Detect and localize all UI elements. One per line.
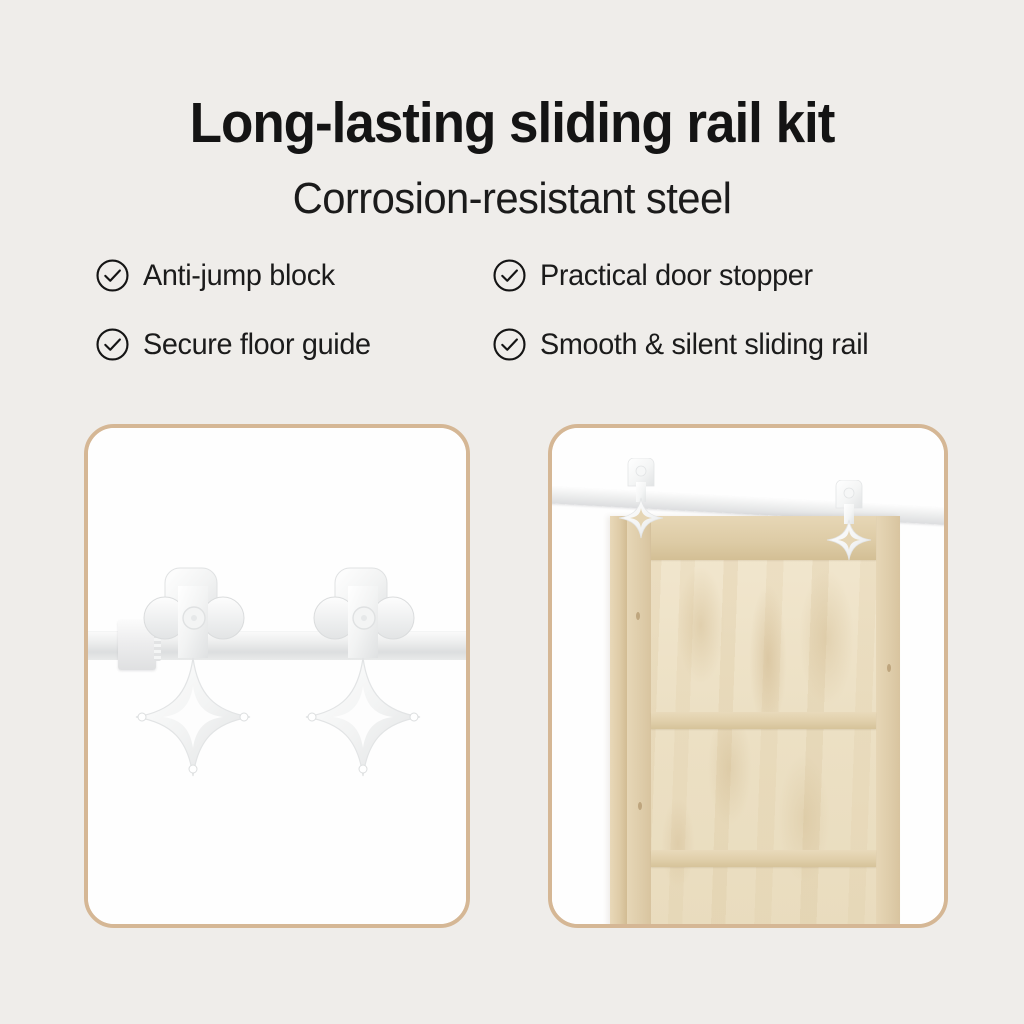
door-stile-left: [627, 516, 651, 924]
star-hanger-roller: [288, 566, 458, 816]
feature-label: Smooth & silent sliding rail: [540, 328, 868, 362]
check-circle-icon: [95, 258, 130, 293]
page-title: Long-lasting sliding rail kit: [36, 94, 988, 152]
check-circle-icon: [492, 327, 527, 362]
infographic-page: Long-lasting sliding rail kit Corrosion-…: [0, 0, 1024, 1024]
feature-label: Secure floor guide: [143, 328, 371, 362]
door-rail-bottom: [651, 850, 876, 867]
star-hanger-roller: [820, 480, 878, 562]
star-hanger-roller: [118, 566, 288, 816]
feature-item-smooth-silent-sliding-rail: Smooth & silent sliding rail: [492, 327, 882, 362]
star-hanger-roller: [612, 458, 670, 540]
feature-item-practical-door-stopper: Practical door stopper: [492, 258, 824, 293]
feature-label: Anti-jump block: [143, 259, 335, 293]
wood-knot: [638, 802, 642, 810]
feature-list: Anti-jump block Practical door stopper S…: [0, 258, 1024, 386]
page-subtitle: Corrosion-resistant steel: [26, 176, 999, 222]
feature-item-anti-jump-block: Anti-jump block: [95, 258, 343, 293]
feature-label: Practical door stopper: [540, 259, 813, 293]
hardware-photo-card: [84, 424, 470, 928]
wood-knot: [636, 612, 640, 620]
door-stile-right: [876, 516, 900, 924]
check-circle-icon: [95, 327, 130, 362]
check-circle-icon: [492, 258, 527, 293]
barn-door: [610, 516, 900, 924]
feature-item-secure-floor-guide: Secure floor guide: [95, 327, 380, 362]
wood-knot: [887, 664, 891, 672]
door-rail-middle: [651, 712, 876, 729]
installed-door-photo: [552, 428, 944, 924]
hardware-photo: [88, 428, 466, 924]
door-edge: [610, 516, 627, 924]
installed-door-photo-card: [548, 424, 948, 928]
